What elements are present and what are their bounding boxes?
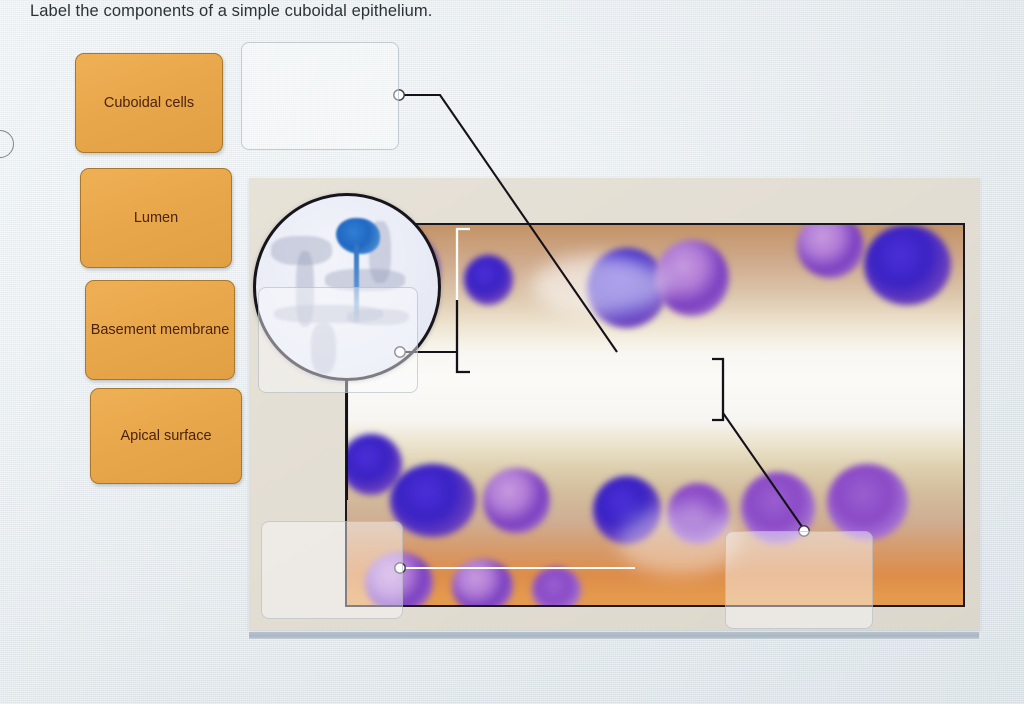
- page-title: Label the components of a simple cuboida…: [30, 2, 432, 21]
- edge-circle-icon: [0, 130, 14, 158]
- cytoplasm-haze: [618, 506, 741, 574]
- drop-zone-top-right[interactable]: [241, 42, 399, 150]
- nucleus: [655, 240, 729, 316]
- nucleus: [390, 464, 476, 536]
- nucleus: [452, 559, 514, 607]
- label-tile-basement-membrane[interactable]: Basement membrane: [85, 280, 235, 380]
- screen-photo-surface: Label the components of a simple cuboida…: [0, 0, 1024, 704]
- cytoplasm-haze: [532, 255, 668, 316]
- nucleus: [532, 567, 581, 607]
- drop-zone-bottom-left[interactable]: [261, 521, 403, 619]
- slide-edge-bar: [249, 632, 979, 639]
- nucleus: [827, 464, 907, 540]
- drop-zone-bottom-right[interactable]: [725, 531, 873, 629]
- label-tile-cuboidal-cells[interactable]: Cuboidal cells: [75, 53, 223, 153]
- label-tile-lumen[interactable]: Lumen: [80, 168, 232, 268]
- label-tile-apical-surface[interactable]: Apical surface: [90, 388, 242, 484]
- drop-zone-magnifier[interactable]: [258, 287, 418, 393]
- nucleus: [483, 468, 551, 533]
- nucleus: [464, 255, 513, 304]
- nucleus: [864, 225, 950, 305]
